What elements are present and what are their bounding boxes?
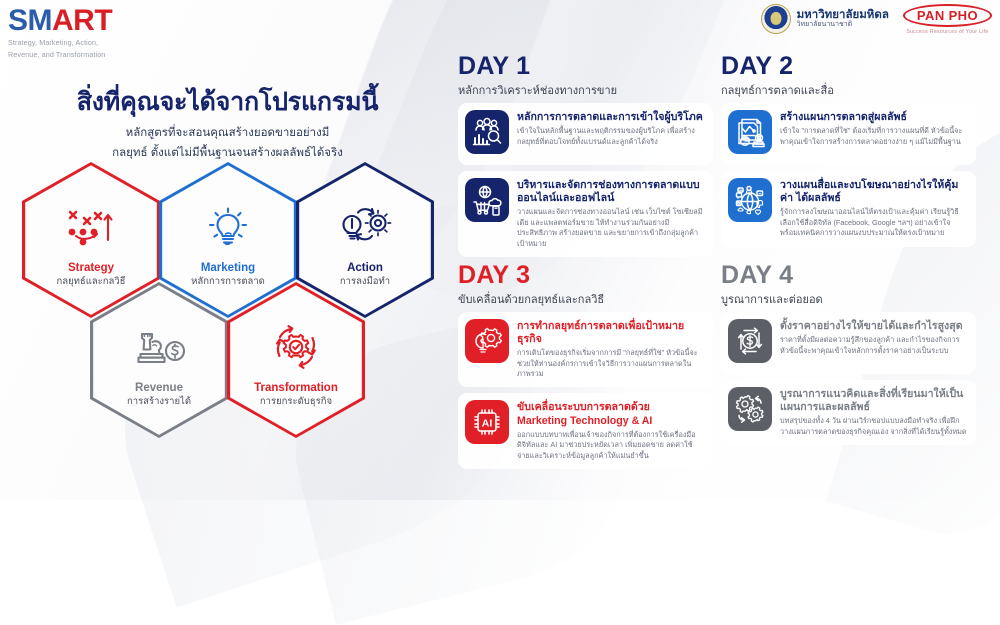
- strategy-plays-icon: [62, 196, 120, 258]
- topic-card[interactable]: การทำกลยุทธ์การตลาดเพื่อเป้าหมายธุรกิจ ก…: [458, 312, 713, 388]
- topic-card-title: บริหารและจัดการช่องทางการตลาดแบบออนไลน์แ…: [517, 179, 705, 205]
- day-header: DAY 3 ขับเคลื่อนด้วยกลยุทธ์และกลวิธี: [458, 263, 713, 308]
- topic-card-body: บทสรุปของทั้ง 4 วัน ผ่านเวิร์กชอปแบบลงมื…: [780, 416, 968, 437]
- poster-stage: SMART Strategy, Marketing, Action, Reven…: [0, 0, 1000, 500]
- day-subtitle: บูรณาการและต่อยอด: [721, 290, 976, 308]
- hexagon-title: Strategy: [68, 262, 114, 274]
- integration-gears-icon: [728, 387, 772, 431]
- hexagon-title: Marketing: [201, 262, 255, 274]
- panpho-tagline: Success Resources of Your Life: [903, 29, 992, 35]
- hexagon-revenue[interactable]: Revenue การสร้างรายได้: [90, 282, 228, 438]
- topic-card-title: การทำกลยุทธ์การตลาดเพื่อเป้าหมายธุรกิจ: [517, 320, 705, 346]
- hexagon-subtitle: การยกระดับธุรกิจ: [260, 394, 332, 409]
- topic-card[interactable]: หลักการการตลาดและการเข้าใจผู้บริโภค เข้า…: [458, 103, 713, 165]
- bulb-gear-strategy-icon: [465, 319, 509, 363]
- smart-wordmark: SMART: [8, 6, 112, 36]
- mahidol-logo: มหาวิทยาลัยมหิดล วิทยาลัยนานาชาติ: [761, 4, 889, 34]
- smart-logo: SMART Strategy, Marketing, Action, Reven…: [8, 6, 112, 59]
- day-subtitle: กลยุทธ์การตลาดและสื่อ: [721, 81, 976, 99]
- price-dollar-cycle-icon: [728, 319, 772, 363]
- topic-card-title: วางแผนสื่อและงบโฆษณาอย่างไรให้คุ้มค่า ได…: [780, 179, 968, 205]
- partner-logos: มหาวิทยาลัยมหิดล วิทยาลัยนานาชาติ PAN PH…: [761, 4, 992, 35]
- bulb-gear-icon: [336, 196, 394, 258]
- topic-card-title-2: Marketing Technology & AI: [517, 415, 705, 428]
- day-number: DAY 1: [458, 54, 713, 79]
- day-number: DAY 2: [721, 54, 976, 79]
- day-row: DAY 3 ขับเคลื่อนด้วยกลยุทธ์และกลวิธี การ…: [458, 263, 988, 475]
- hexagon-title: Action: [347, 262, 383, 274]
- hexagon-title: Transformation: [254, 382, 338, 394]
- topic-card-body: เข้าใจ "การตลาดที่ใช่" ต้องเริ่มที่การวา…: [780, 126, 968, 147]
- topic-card[interactable]: บูรณาการแนวคิดและสิ่งที่เรียนมาให้เป็นแผ…: [721, 380, 976, 445]
- hexagon-transformation[interactable]: Transformation การยกระดับธุรกิจ: [227, 282, 365, 438]
- topic-card-body: วางแผนและจัดการช่องทางออนไลน์ เช่น เว็บไ…: [517, 207, 705, 248]
- days-panel: DAY 1 หลักการวิเคราะห์ช่องทางการขาย หลัก…: [458, 54, 988, 475]
- topic-card-body: ราคาที่ตั้งมีผลต่อความรู้สึกของลูกค้า แล…: [780, 335, 968, 356]
- panpho-name: PAN PHO: [903, 4, 992, 27]
- day-column-day-1: DAY 1 หลักการวิเคราะห์ช่องทางการขาย หลัก…: [458, 54, 713, 263]
- topic-card-body: การเติบโตของธุรกิจเริ่มจากการมี "กลยุทธ์…: [517, 348, 705, 379]
- day-subtitle: ขับเคลื่อนด้วยกลยุทธ์และกลวิธี: [458, 290, 713, 308]
- gear-check-cycle-icon: [267, 316, 325, 378]
- topic-card[interactable]: AI ขับเคลื่อนระบบการตลาดด้วย Marketing T…: [458, 393, 713, 469]
- hexagon-subtitle: การสร้างรายได้: [127, 394, 191, 409]
- omnichannel-commerce-icon: [465, 178, 509, 222]
- smart-tagline-line2: Revenue, and Transformation: [8, 50, 112, 60]
- topic-card-title: หลักการการตลาดและการเข้าใจผู้บริโภค: [517, 111, 705, 124]
- day-column-day-3: DAY 3 ขับเคลื่อนด้วยกลยุทธ์และกลวิธี การ…: [458, 263, 713, 475]
- day-column-day-4: DAY 4 บูรณาการและต่อยอด ตั้งราคาอย่างไรใ…: [721, 263, 976, 475]
- day-row: DAY 1 หลักการวิเคราะห์ช่องทางการขาย หลัก…: [458, 54, 988, 263]
- mahidol-seal-icon: [761, 4, 791, 34]
- topic-card-title: ขับเคลื่อนระบบการตลาดด้วย: [517, 401, 705, 414]
- chess-dollar-icon: [130, 316, 188, 378]
- lightbulb-icon: [199, 196, 257, 258]
- topic-card-title: สร้างแผนการตลาดสู่ผลลัพธ์: [780, 111, 968, 124]
- left-headline-block: สิ่งที่คุณจะได้จากโปรแกรมนี้ หลักสูตรที่…: [0, 82, 455, 161]
- page-title: สิ่งที่คุณจะได้จากโปรแกรมนี้: [0, 82, 455, 122]
- day-header: DAY 4 บูรณาการและต่อยอด: [721, 263, 976, 308]
- topic-card-title: บูรณาการแนวคิดและสิ่งที่เรียนมาให้เป็นแผ…: [780, 388, 968, 414]
- mahidol-sub: วิทยาลัยนานาชาติ: [797, 21, 889, 29]
- panpho-logo: PAN PHO Success Resources of Your Life: [903, 4, 992, 35]
- smart-tagline-line1: Strategy, Marketing, Action,: [8, 38, 112, 48]
- social-media-globe-icon: [728, 178, 772, 222]
- marketing-plan-report-icon: [728, 110, 772, 154]
- day-header: DAY 2 กลยุทธ์การตลาดและสื่อ: [721, 54, 976, 99]
- day-header: DAY 1 หลักการวิเคราะห์ช่องทางการขาย: [458, 54, 713, 99]
- day-number: DAY 3: [458, 263, 713, 288]
- topic-card-body: รู้จักการลงโฆษณาออนไลน์ให้ตรงเป้าและคุ้ม…: [780, 207, 968, 238]
- smart-hexagon-cluster: Strategy กลยุทธ์และกลวิธี Marketing หลัก…: [22, 162, 442, 462]
- topic-card[interactable]: ตั้งราคาอย่างไรให้ขายได้และกำไรสูงสุด รา…: [721, 312, 976, 374]
- topic-card-body: เข้าใจในหลักพื้นฐานและพฤติกรรมของผู้บริโ…: [517, 126, 705, 147]
- page-subtitle-line1: หลักสูตรที่จะสอนคุณสร้างยอดขายอย่างมี: [0, 125, 455, 142]
- day-number: DAY 4: [721, 263, 976, 288]
- audience-research-icon: [465, 110, 509, 154]
- svg-text:AI: AI: [482, 418, 493, 430]
- topic-card[interactable]: วางแผนสื่อและงบโฆษณาอย่างไรให้คุ้มค่า ได…: [721, 171, 976, 247]
- topic-card-title: ตั้งราคาอย่างไรให้ขายได้และกำไรสูงสุด: [780, 320, 968, 333]
- topic-card[interactable]: สร้างแผนการตลาดสู่ผลลัพธ์ เข้าใจ "การตลา…: [721, 103, 976, 165]
- page-subtitle-line2: กลยุทธ์ ตั้งแต่ไม่มีพื้นฐานจนสร้างผลลัพธ…: [0, 145, 455, 162]
- topic-card-body: ออกแบบบทบาทเพื่อนเจ้าของกิจการที่ต้องการ…: [517, 430, 705, 461]
- mahidol-name: มหาวิทยาลัยมหิดล: [797, 9, 889, 22]
- ai-chip-icon: AI: [465, 400, 509, 444]
- day-subtitle: หลักการวิเคราะห์ช่องทางการขาย: [458, 81, 713, 99]
- day-column-day-2: DAY 2 กลยุทธ์การตลาดและสื่อ สร้างแผนการต…: [721, 54, 976, 263]
- hexagon-title: Revenue: [135, 382, 183, 394]
- topic-card[interactable]: บริหารและจัดการช่องทางการตลาดแบบออนไลน์แ…: [458, 171, 713, 257]
